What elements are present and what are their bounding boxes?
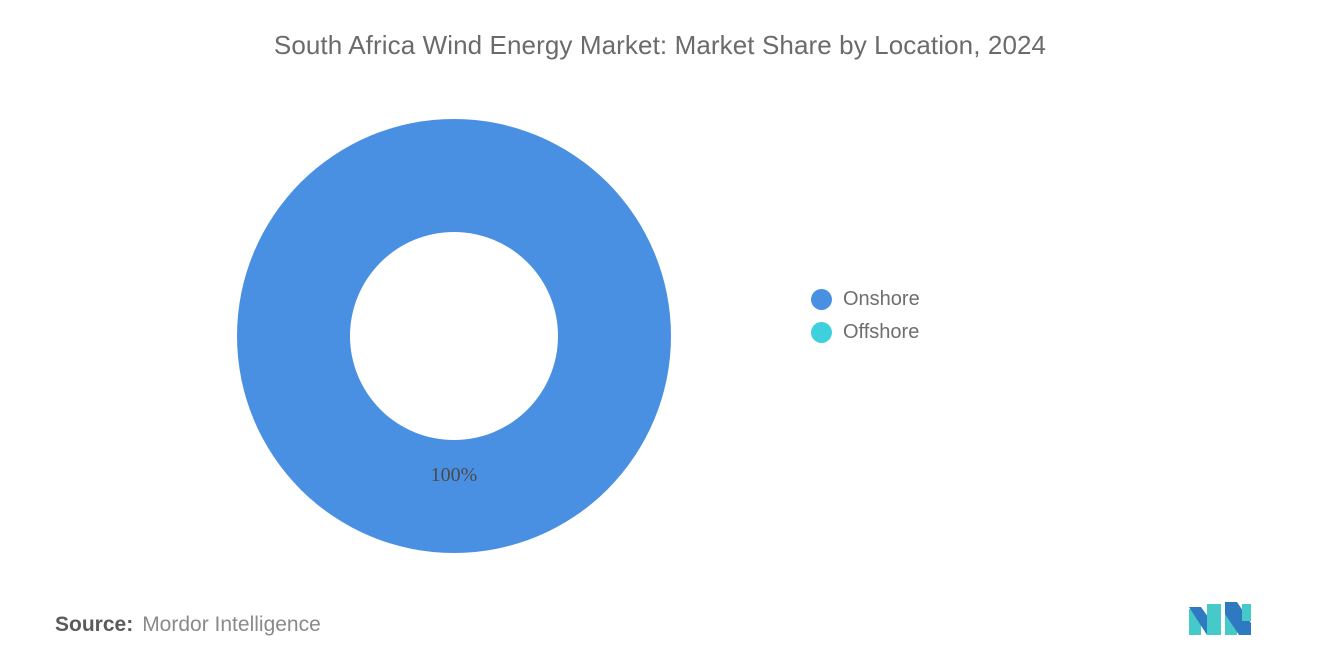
legend-swatch-offshore xyxy=(811,322,832,343)
legend-swatch-onshore xyxy=(811,289,832,310)
source-label: Source: xyxy=(55,613,133,637)
source-attribution: Source: Mordor Intelligence xyxy=(55,613,321,637)
legend-label-offshore: Offshore xyxy=(843,321,919,344)
logo-svg xyxy=(1187,601,1253,635)
page-title: South Africa Wind Energy Market: Market … xyxy=(0,30,1320,61)
mordor-intelligence-logo-icon xyxy=(1187,601,1253,635)
legend-item-onshore[interactable]: Onshore xyxy=(811,283,920,316)
donut-chart xyxy=(237,119,671,553)
legend-item-offshore[interactable]: Offshore xyxy=(811,316,920,349)
donut-chart-svg xyxy=(237,119,671,553)
source-name: Mordor Intelligence xyxy=(142,613,321,637)
legend-label-onshore: Onshore xyxy=(843,288,920,311)
donut-segment-onshore[interactable] xyxy=(237,119,671,553)
chart-legend: Onshore Offshore xyxy=(811,283,920,349)
